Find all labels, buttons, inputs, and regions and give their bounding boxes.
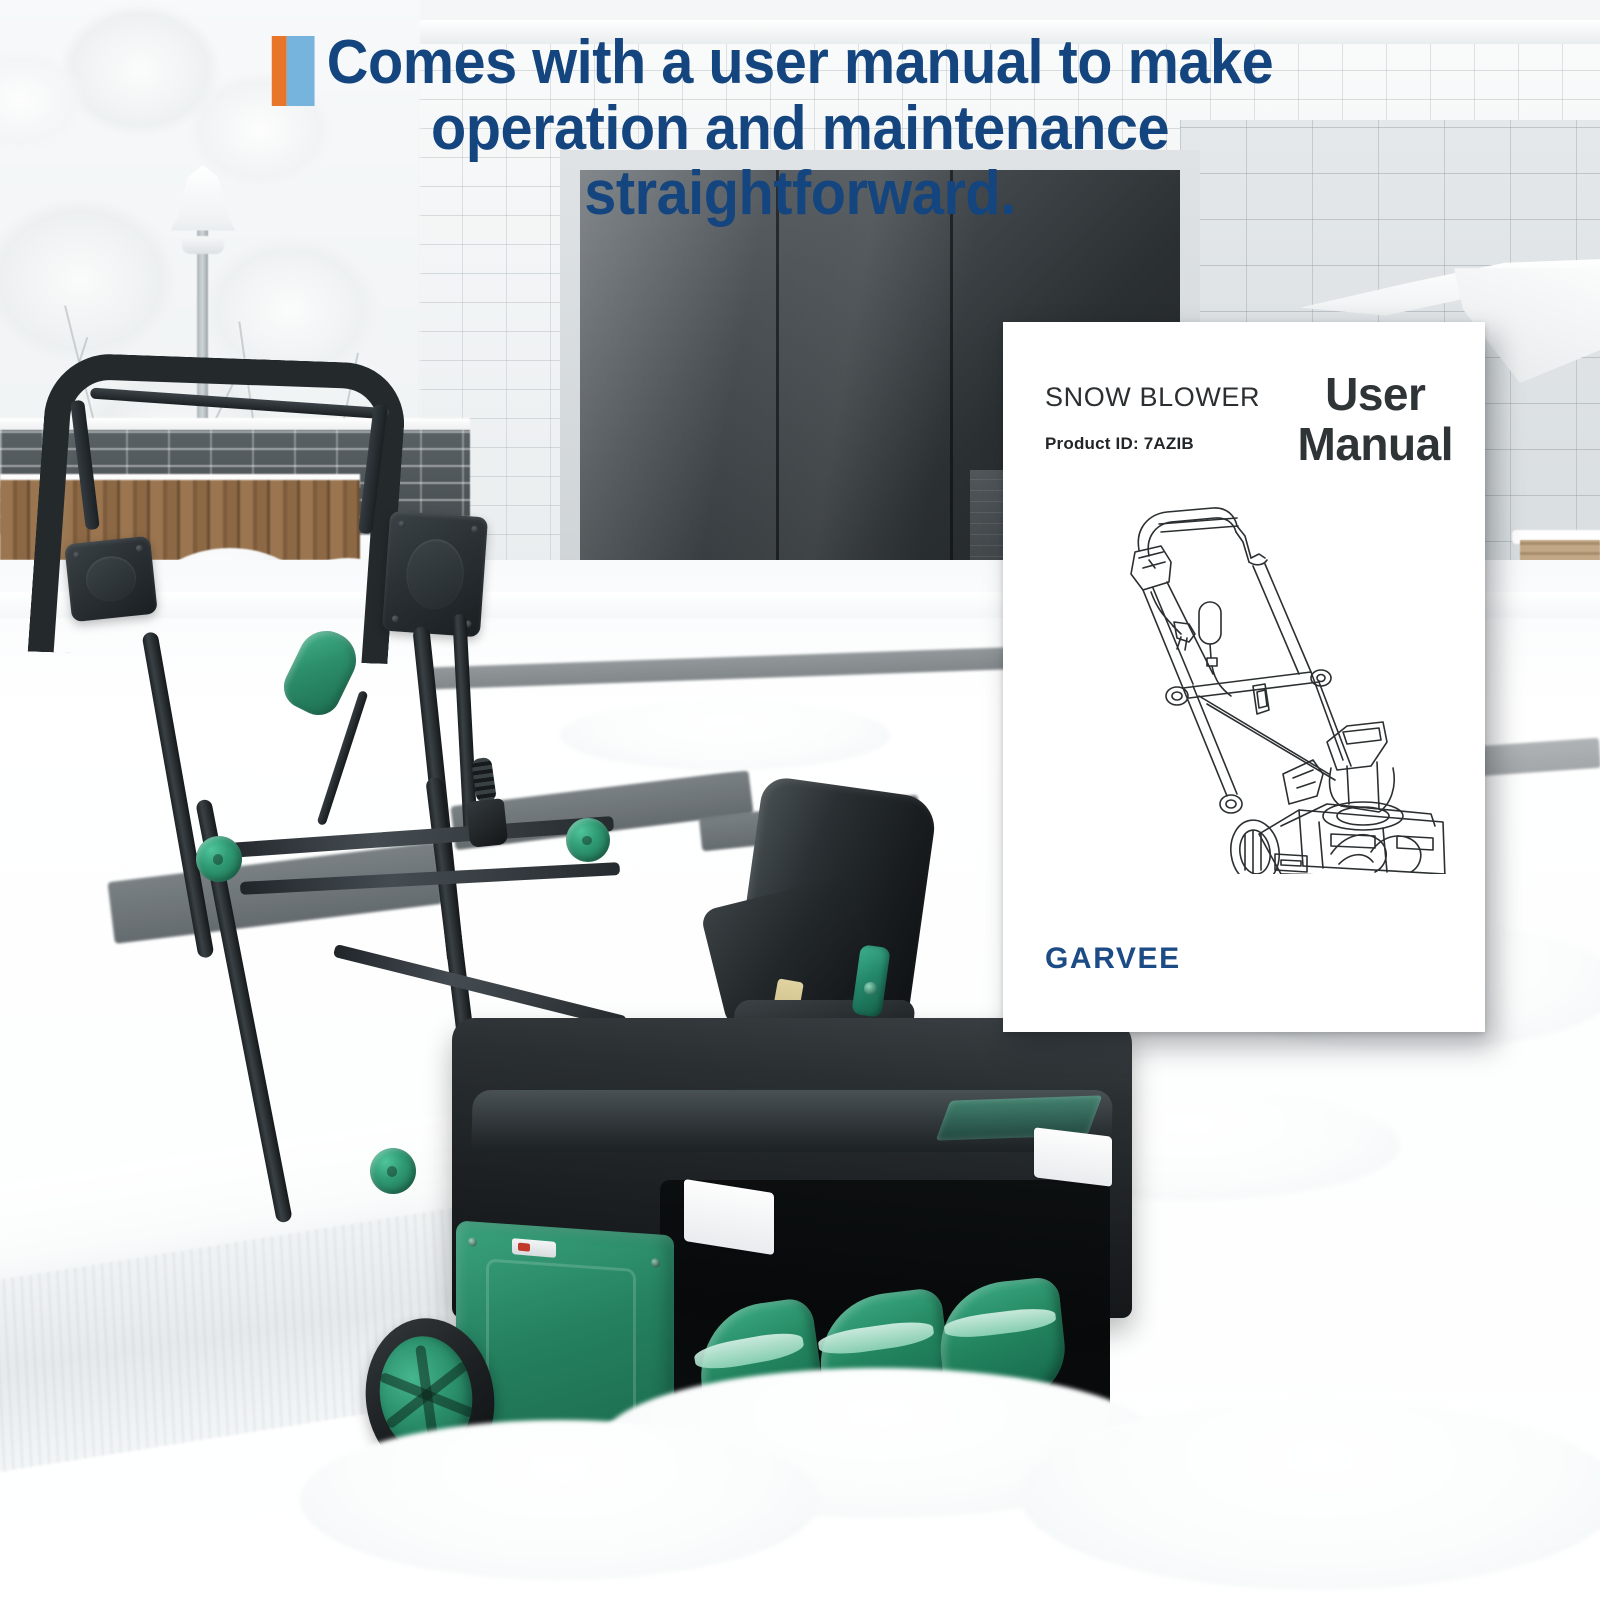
user-manual-card: SNOW BLOWER Product ID: 7AZIB User Manua… <box>1003 322 1485 1032</box>
accent-bar-blue <box>287 36 315 106</box>
frame-crossbar-upper <box>214 816 614 859</box>
switch-box-main[interactable] <box>382 511 488 638</box>
manual-doc-title-line1: User <box>1298 370 1453 420</box>
screw <box>471 525 478 532</box>
adjustment-knob-lower[interactable] <box>370 1148 416 1194</box>
accent-bar-orange <box>272 36 287 106</box>
power-cord-plug <box>466 798 509 848</box>
panel-screw <box>651 1258 660 1268</box>
manual-doc-title-line2: Manual <box>1298 420 1453 470</box>
accent-bar-icon <box>272 36 315 106</box>
frame-crossbar-lower <box>240 862 620 895</box>
manual-brand-logo: GARVEE <box>1045 942 1181 976</box>
headline-block: Comes with a user manual to make operati… <box>0 30 1600 227</box>
switch-disc-icon <box>404 537 466 610</box>
frame-rail-left-upper <box>141 631 214 959</box>
skid-shoe-right <box>1034 1127 1112 1187</box>
manual-illustration <box>1031 474 1463 874</box>
latch-pin-icon <box>863 981 878 996</box>
panel-screw <box>468 1237 477 1247</box>
screw <box>398 520 405 527</box>
headline-line-3: straightforward. <box>251 161 1348 227</box>
headline-text: Comes with a user manual to make operati… <box>251 30 1348 227</box>
headline-line-1: Comes with a user manual to make <box>251 30 1348 96</box>
switch-box-left[interactable] <box>64 536 158 623</box>
snow-pile-right <box>1020 1400 1600 1590</box>
headline-line-2: operation and maintenance <box>251 96 1348 162</box>
adjustment-knob-right[interactable] <box>566 818 610 862</box>
adjustment-knob-left[interactable] <box>196 836 242 882</box>
marketing-image-canvas: SNOW BLOWER Product ID: 7AZIB User Manua… <box>0 0 1600 1600</box>
snow-pile-left <box>300 1420 820 1580</box>
frame-diagonal-brace <box>333 944 627 1029</box>
switch-disc-icon <box>84 554 138 604</box>
manual-product-id: Product ID: 7AZIB <box>1045 434 1194 454</box>
manual-doc-title: User Manual <box>1298 370 1453 469</box>
manual-product-title: SNOW BLOWER <box>1045 382 1260 413</box>
screw <box>392 615 399 622</box>
screw <box>73 551 81 559</box>
screw <box>136 545 144 553</box>
